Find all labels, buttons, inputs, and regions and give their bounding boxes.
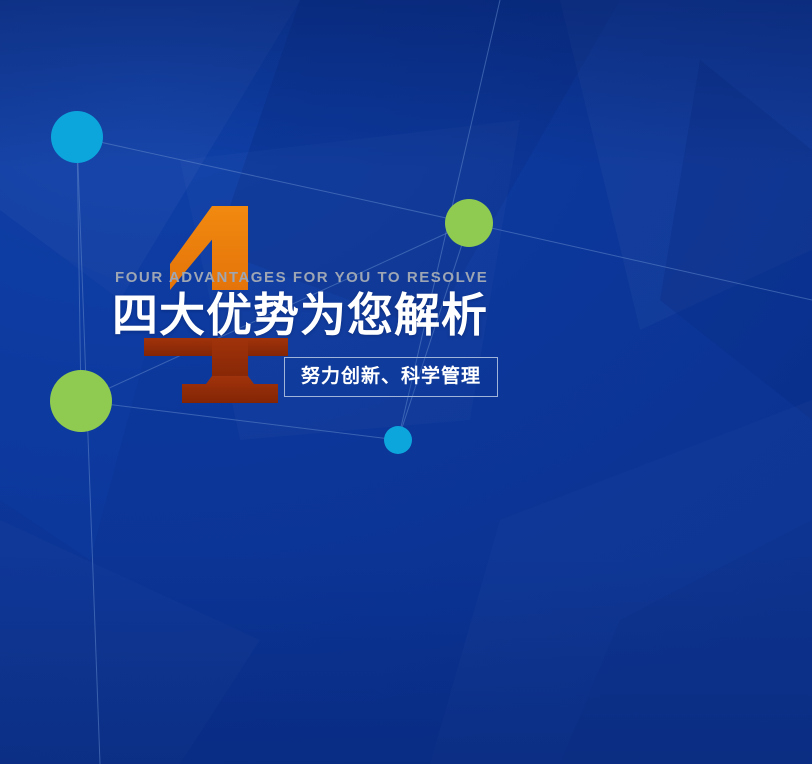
node-top-left: [51, 111, 103, 163]
line-topleft-down: [77, 137, 100, 764]
page-title: 四大优势为您解析: [112, 291, 732, 341]
headline-block: FOUR ADVANTAGES FOR YOU TO RESOLVE 四大优势为…: [112, 270, 732, 397]
node-right: [445, 199, 493, 247]
node-bottom-left: [50, 370, 112, 432]
tagline-badge: 努力创新、科学管理: [284, 357, 498, 397]
node-bottom-right: [384, 426, 412, 454]
line-topleft-to-bottomleft: [77, 137, 81, 401]
four-advantages-banner: FOUR ADVANTAGES FOR YOU TO RESOLVE 四大优势为…: [0, 0, 812, 764]
tagline-row: 努力创新、科学管理: [284, 357, 732, 397]
eyebrow-text: FOUR ADVANTAGES FOR YOU TO RESOLVE: [115, 270, 732, 285]
